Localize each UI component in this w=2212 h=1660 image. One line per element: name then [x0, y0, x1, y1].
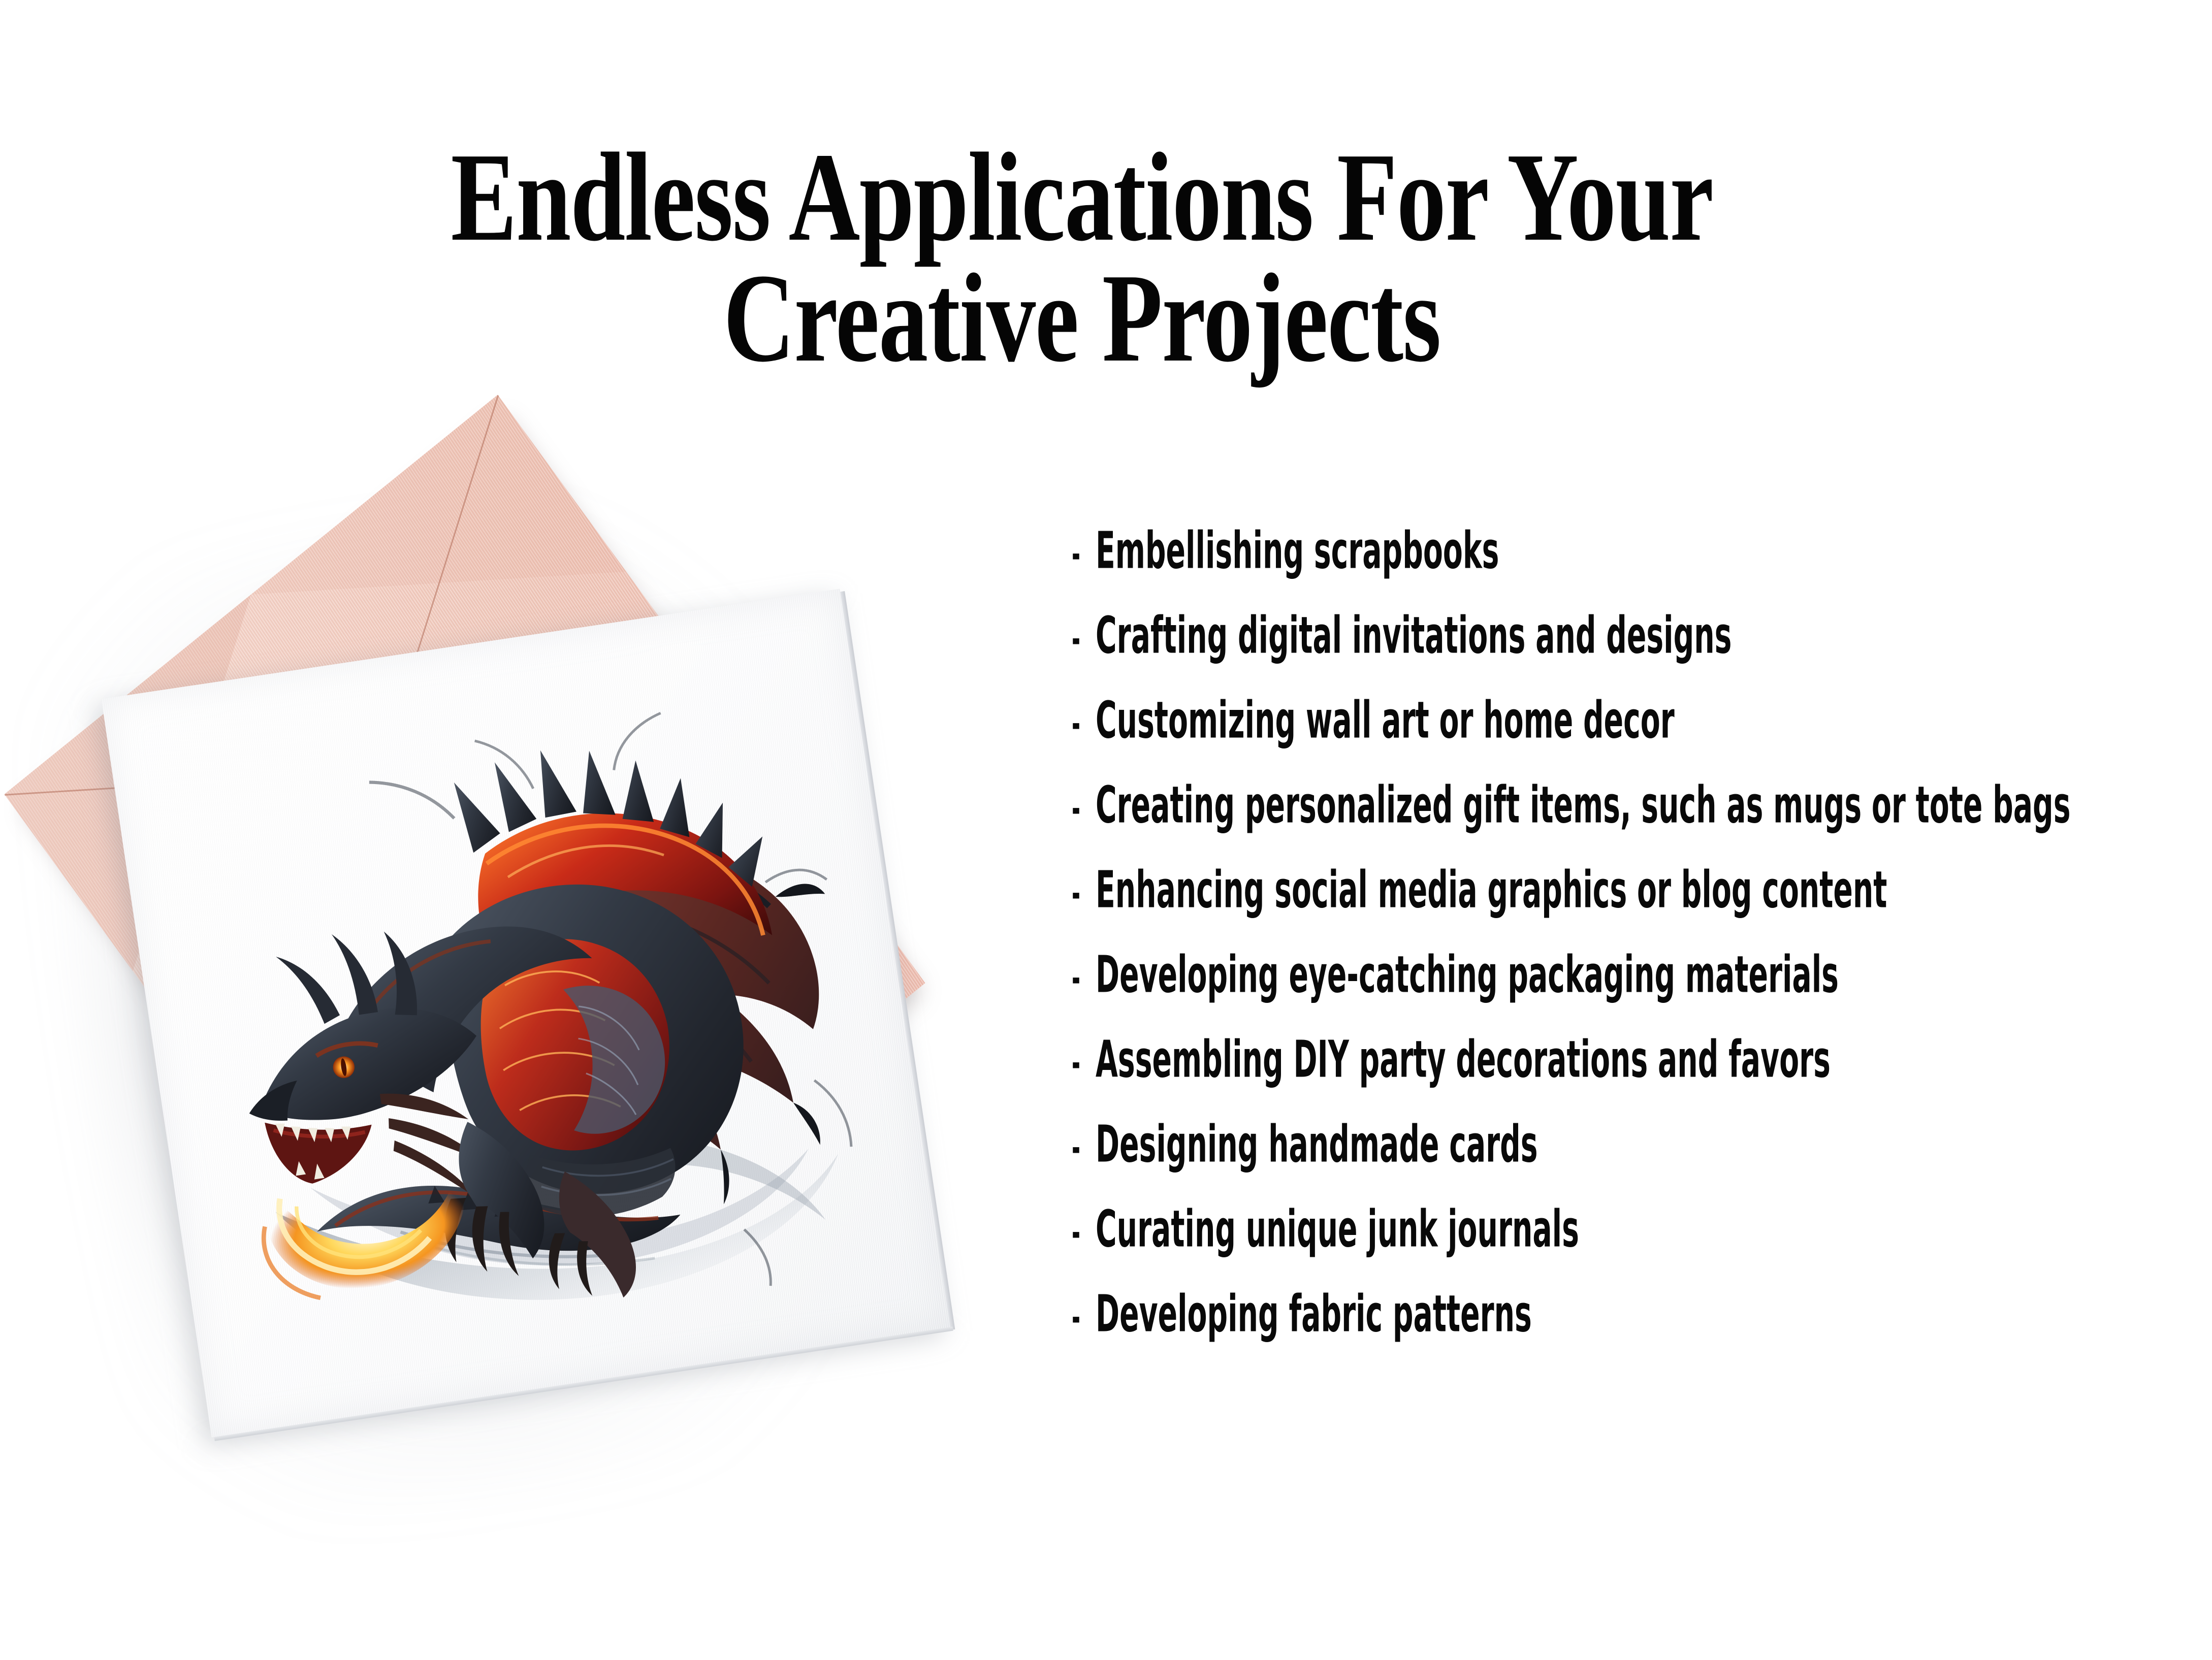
page-title: Endless Applications For Your Creative P…	[0, 137, 2212, 378]
list-item-label: Embellishing scrapbooks	[1096, 522, 1499, 580]
list-bullet-dash: -	[1072, 1294, 1080, 1342]
list-bullet-dash: -	[1072, 1209, 1080, 1257]
dragon-illustration	[168, 672, 891, 1369]
list-item-label: Developing fabric patterns	[1096, 1285, 1532, 1344]
listing-graphic-page: Endless Applications For Your Creative P…	[0, 0, 2212, 1660]
list-bullet-dash: -	[1072, 531, 1080, 578]
list-item: - Developing fabric patterns	[1072, 1289, 2189, 1374]
list-item: - Enhancing social media graphics or blo…	[1072, 865, 2189, 950]
list-item: - Embellishing scrapbooks	[1072, 526, 2189, 610]
list-bullet-dash: -	[1072, 615, 1080, 663]
list-item: - Crafting digital invitations and desig…	[1072, 610, 2189, 695]
list-item: - Curating unique junk journals	[1072, 1204, 2189, 1289]
list-item: - Customizing wall art or home decor	[1072, 695, 2189, 780]
page-title-line-1: Endless Applications For Your	[201, 137, 1964, 258]
list-item: - Designing handmade cards	[1072, 1119, 2189, 1204]
white-greeting-card	[101, 589, 950, 1437]
list-bullet-dash: -	[1072, 1124, 1080, 1172]
product-mockup-photo	[61, 355, 1051, 1600]
list-bullet-dash: -	[1072, 1039, 1080, 1087]
applications-list: - Embellishing scrapbooks - Crafting dig…	[1072, 526, 2189, 1374]
list-item-label: Assembling DIY party decorations and fav…	[1096, 1030, 1831, 1089]
list-item: - Creating personalized gift items, such…	[1072, 780, 2189, 865]
list-item-label: Designing handmade cards	[1096, 1115, 1538, 1174]
list-item-label: Enhancing social media graphics or blog …	[1096, 861, 1887, 920]
list-item: - Assembling DIY party decorations and f…	[1072, 1034, 2189, 1119]
list-item-label: Creating personalized gift items, such a…	[1096, 776, 2070, 835]
list-bullet-dash: -	[1072, 700, 1080, 748]
list-item-label: Curating unique junk journals	[1096, 1200, 1579, 1259]
list-bullet-dash: -	[1072, 785, 1080, 833]
list-bullet-dash: -	[1072, 955, 1080, 1002]
list-item-label: Customizing wall art or home decor	[1096, 691, 1675, 750]
list-bullet-dash: -	[1072, 870, 1080, 918]
list-item-label: Developing eye-catching packaging materi…	[1096, 946, 1839, 1004]
list-item-label: Crafting digital invitations and designs	[1096, 606, 1732, 665]
list-item: - Developing eye-catching packaging mate…	[1072, 950, 2189, 1034]
